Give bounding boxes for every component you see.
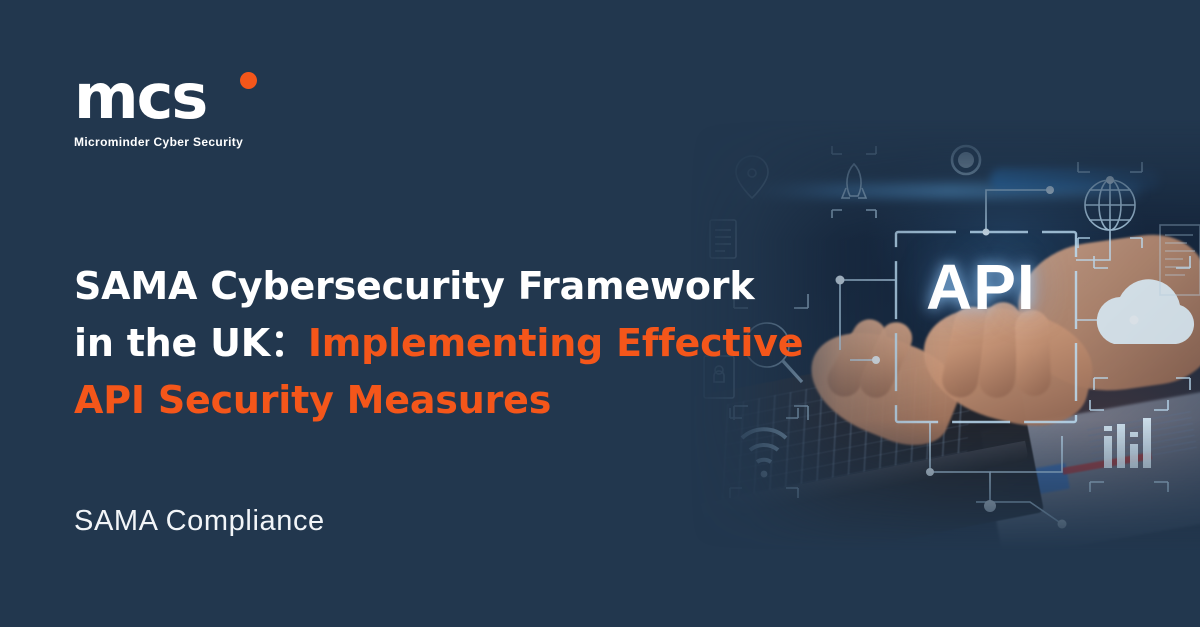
bar-chart-bars xyxy=(1104,418,1151,468)
rocket-icon xyxy=(832,146,876,218)
bar-chart-icon xyxy=(1090,400,1168,492)
category-label[interactable]: SAMA Compliance xyxy=(74,505,325,538)
orange-dot-icon xyxy=(240,72,257,89)
connector-bottom xyxy=(930,422,990,506)
document-icon xyxy=(710,220,736,258)
logo-tagline: Microminder Cyber Security xyxy=(74,135,243,149)
headline-line3-accent: API Security Measures xyxy=(74,378,551,422)
page-title: SAMA Cybersecurity Framework in the UK：I… xyxy=(74,258,874,429)
headline-line1: SAMA Cybersecurity Framework xyxy=(74,264,754,308)
cloud-glyph xyxy=(1097,279,1194,344)
user-icon xyxy=(952,146,980,174)
headline-line2-accent: Implementing Effective xyxy=(308,321,803,365)
network-nodes xyxy=(836,176,1139,529)
logo-wordmark: mcs xyxy=(74,68,243,126)
brand-logo[interactable]: mcs Microminder Cyber Security xyxy=(74,68,243,149)
connector-bottom-right xyxy=(990,436,1062,472)
blog-banner: API mcs Microminder Cyber Security SAMA … xyxy=(0,0,1200,627)
api-label: API xyxy=(926,250,1036,324)
connector-top xyxy=(986,190,1050,232)
headline-line2-white: in the UK： xyxy=(74,321,308,365)
logo-wordmark-text: mcs xyxy=(74,60,206,133)
location-pin-icon xyxy=(736,156,768,198)
